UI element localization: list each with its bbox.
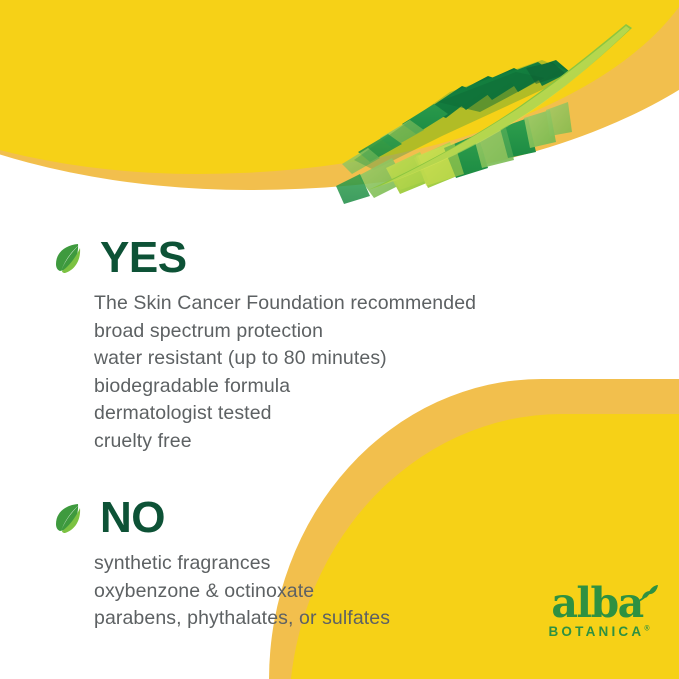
registered-mark: ® [644,626,649,633]
brand-logo: alba BOTANICA® [535,583,659,639]
brand-subtitle: BOTANICA® [537,624,661,639]
list-item: oxybenzone & octinoxate [94,578,390,606]
list-item: parabens, phythalates, or sulfates [94,605,390,633]
list-item: The Skin Cancer Foundation recommended [94,290,476,318]
list-item: biodegradable formula [94,373,476,401]
section-no: NO synthetic fragrances oxybenzone & oct… [48,496,390,633]
section-yes-title: YES [100,236,187,280]
list-item: broad spectrum protection [94,318,476,346]
list-item: synthetic fragrances [94,550,390,578]
list-item: water resistant (up to 80 minutes) [94,345,476,373]
product-feature-graphic: YES The Skin Cancer Foundation recommend… [0,0,679,679]
brand-wordmark: alba [551,583,642,623]
section-yes: YES The Skin Cancer Foundation recommend… [48,236,476,455]
brand-subtitle-text: BOTANICA [548,624,644,639]
section-yes-header: YES [48,236,476,280]
list-item: cruelty free [94,428,476,456]
tropical-banana-leaf-illustration [330,18,640,228]
list-item: dermatologist tested [94,400,476,428]
leaf-icon [48,500,88,540]
section-no-list: synthetic fragrances oxybenzone & octino… [48,550,390,633]
section-yes-list: The Skin Cancer Foundation recommended b… [48,290,476,455]
brand-name: alba [551,579,642,627]
section-no-header: NO [48,496,390,540]
section-no-title: NO [100,496,165,540]
leaf-sprig-icon [637,584,659,604]
leaf-icon [48,240,88,280]
